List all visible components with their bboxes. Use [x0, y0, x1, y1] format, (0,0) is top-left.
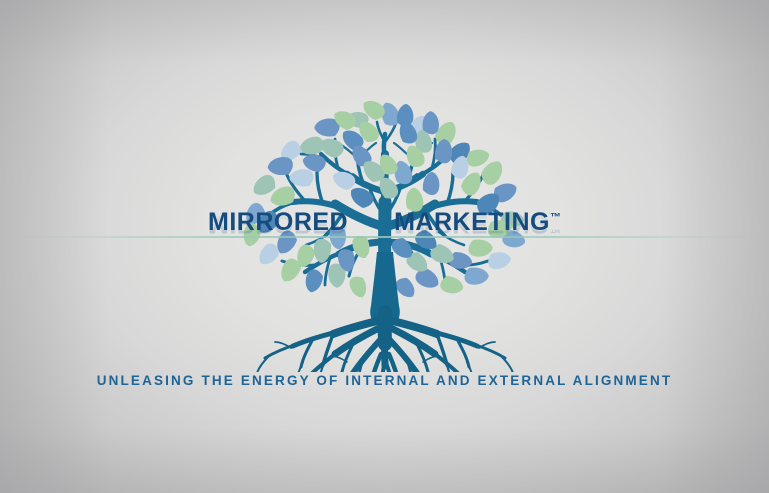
- logo-canvas: MIRROREDMARKETING™ MIRROREDMARKETING™ UN…: [0, 0, 769, 493]
- tagline: UNLEASING THE ENERGY OF INTERNAL AND EXT…: [0, 373, 769, 388]
- brand-logo: MIRROREDMARKETING™ MIRROREDMARKETING™: [0, 0, 769, 420]
- trademark-symbol: ™: [550, 212, 561, 224]
- wordmark: MIRROREDMARKETING™: [0, 210, 769, 235]
- tree-roots: [257, 312, 513, 372]
- wordmark-part1: MIRRORED: [208, 208, 348, 236]
- wordmark-part2: MARKETING: [394, 208, 550, 236]
